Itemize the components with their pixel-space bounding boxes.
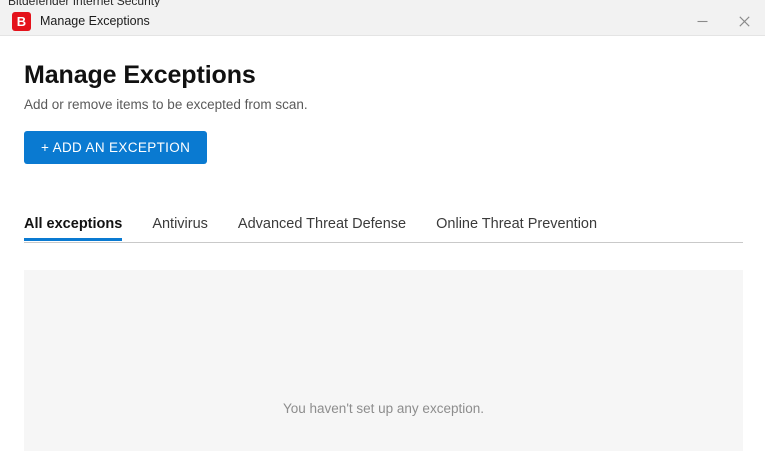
exception-tabs: All exceptions Antivirus Advanced Threat… [24,216,743,244]
add-an-exception-button[interactable]: + ADD AN EXCEPTION [24,131,207,164]
window-controls [681,7,765,35]
background-app-title: Bitdefender Internet Security [8,0,160,7]
window-titlebar: B Manage Exceptions [0,7,765,36]
background-app-strip: Bitdefender Internet Security [0,0,765,7]
tab-all-exceptions[interactable]: All exceptions [24,216,122,238]
close-icon [739,16,750,27]
tab-antivirus[interactable]: Antivirus [152,216,208,238]
main-content: Manage Exceptions Add or remove items to… [0,36,765,451]
page-title: Manage Exceptions [24,61,256,90]
tab-online-threat-prevention[interactable]: Online Threat Prevention [436,216,597,238]
empty-state-message: You haven't set up any exception. [24,401,743,416]
exceptions-list-panel: You haven't set up any exception. [24,270,743,451]
tabs-divider [24,242,743,243]
manage-exceptions-window: Bitdefender Internet Security B Manage E… [0,0,765,451]
titlebar-left-group: B Manage Exceptions [12,7,150,35]
window-title: Manage Exceptions [40,14,150,28]
bitdefender-logo-icon: B [12,12,31,31]
minimize-button[interactable] [681,7,723,35]
minimize-icon [697,16,708,27]
page-subtitle: Add or remove items to be excepted from … [24,97,308,112]
tab-advanced-threat-defense[interactable]: Advanced Threat Defense [238,216,406,238]
close-button[interactable] [723,7,765,35]
tabs-row: All exceptions Antivirus Advanced Threat… [24,216,743,242]
